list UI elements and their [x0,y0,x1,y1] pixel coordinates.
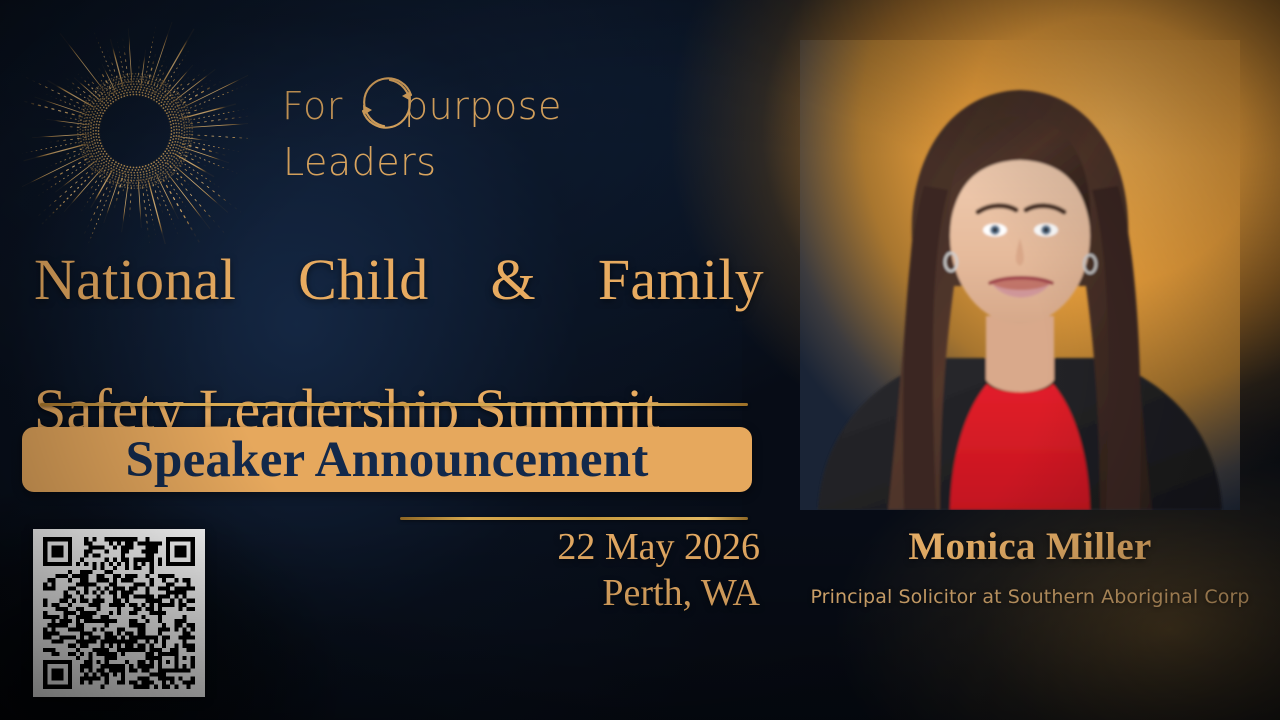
wordmark-purpose: purpose [404,84,562,128]
divider-bottom [400,517,748,520]
speaker-announcement-banner: Speaker Announcement [22,427,752,492]
speaker-announcement-poster: For purpose Leaders National Child & Fam… [0,0,1280,720]
page-title: National Child & Family Safety Leadershi… [34,248,764,443]
sunburst-icon [22,18,248,244]
qr-code-icon[interactable] [33,529,205,697]
brand-wordmark: For purpose Leaders [282,82,552,182]
banner-label: Speaker Announcement [22,427,752,492]
wordmark-for: For [282,84,343,128]
divider-top [40,403,748,406]
event-location: Perth, WA [440,570,760,616]
event-details: 22 May 2026 Perth, WA [440,524,760,617]
wordmark-leaders: Leaders [283,140,437,184]
speaker-portrait-photo [800,40,1240,510]
event-date: 22 May 2026 [440,524,760,570]
speaker-role: Principal Solicitor at Southern Aborigin… [800,585,1260,611]
speaker-name: Monica Miller [790,524,1270,569]
page-title-line1: National Child & Family [34,248,764,378]
